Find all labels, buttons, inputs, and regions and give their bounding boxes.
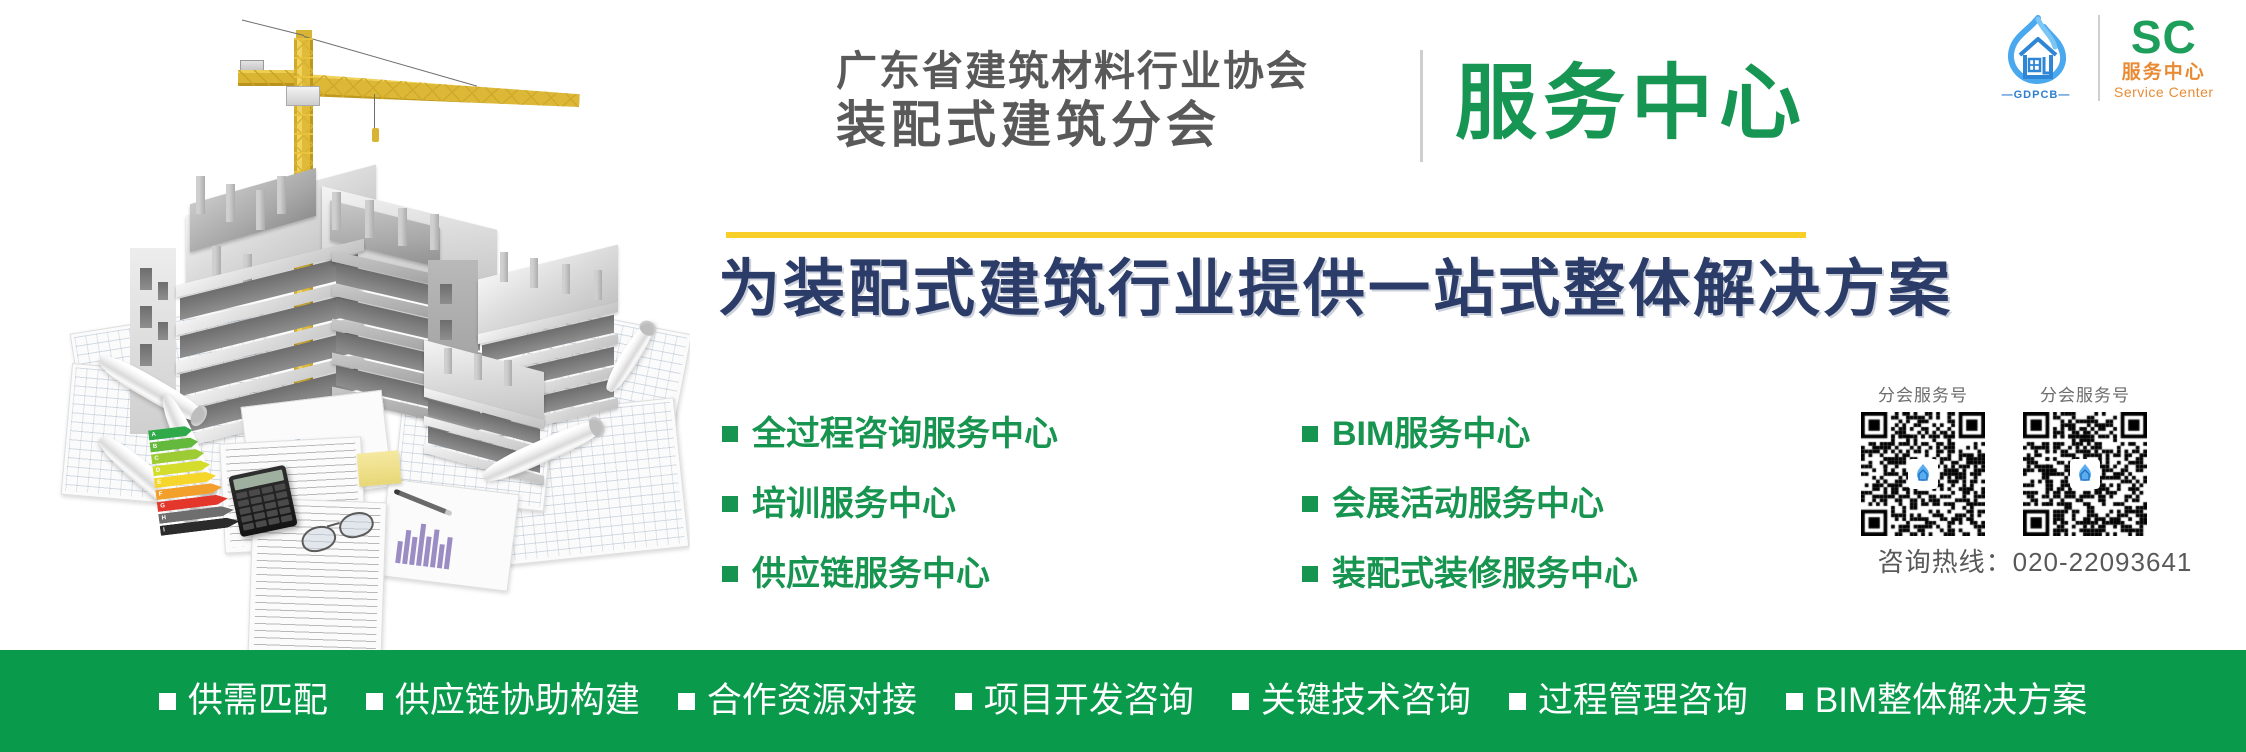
- brand-logo: —GDPCB— SC 服务中心 Service Center: [1988, 14, 2214, 101]
- footer-service-item-label: BIM整体解决方案: [1815, 680, 2087, 722]
- square-bullet-icon: [722, 566, 738, 582]
- footer-service-item[interactable]: 项目开发咨询: [955, 680, 1194, 722]
- footer-service-item[interactable]: 供应链协助构建: [366, 680, 640, 722]
- crane-hook: [372, 128, 379, 142]
- square-bullet-icon: [722, 496, 738, 512]
- sticky-note: [357, 450, 402, 487]
- calculator-keypad: [236, 483, 293, 531]
- crane-operator-cab: [286, 86, 320, 106]
- service-list-item-label: 会展活动服务中心: [1332, 484, 1604, 524]
- qr-center-logo: [1908, 459, 1938, 489]
- service-list-item[interactable]: 培训服务中心: [722, 484, 1058, 524]
- footer-service-item-label: 过程管理咨询: [1538, 680, 1748, 722]
- sc-chinese-label: 服务中心: [2114, 61, 2214, 84]
- service-list-item[interactable]: 供应链服务中心: [722, 554, 1058, 594]
- gdpcb-mark-small: [2074, 463, 2096, 485]
- square-bullet-icon: [1509, 693, 1526, 710]
- gdpcb-wordmark: —GDPCB—: [1988, 89, 2084, 101]
- service-list-item[interactable]: 全过程咨询服务中心: [722, 414, 1058, 454]
- service-center-title: 服务中心: [1455, 56, 1807, 152]
- service-list-left: 全过程咨询服务中心 培训服务中心 供应链服务中心: [722, 414, 1058, 594]
- footer-service-item-label: 供应链协助构建: [395, 680, 640, 722]
- service-list-item-label: 培训服务中心: [752, 484, 956, 524]
- footer-service-item[interactable]: 过程管理咨询: [1509, 680, 1748, 722]
- service-list-item[interactable]: 装配式装修服务中心: [1302, 554, 1638, 594]
- square-bullet-icon: [366, 693, 383, 710]
- qr-code-block: 分会服务号 分会服务号: [1855, 385, 2215, 578]
- square-bullet-icon: [159, 693, 176, 710]
- footer-service-bar: 供需匹配供应链协助构建合作资源对接项目开发咨询关键技术咨询过程管理咨询BIM整体…: [0, 650, 2246, 752]
- footer-service-item-label: 项目开发咨询: [984, 680, 1194, 722]
- gdpcb-logo: —GDPCB—: [1988, 15, 2084, 101]
- footer-service-item[interactable]: 供需匹配: [159, 680, 328, 722]
- sc-logo: SC 服务中心 Service Center: [2114, 14, 2214, 101]
- gdpcb-mark-small: [1912, 463, 1934, 485]
- mini-bar-chart: [395, 517, 454, 569]
- service-list-right: BIM服务中心 会展活动服务中心 装配式装修服务中心: [1302, 414, 1638, 594]
- banner-root: ABCDEFGHI 广东省建筑材料行业协会 装配式建筑分会 服务中心 为装配式建…: [0, 0, 2246, 752]
- qr-center-logo: [2070, 459, 2100, 489]
- footer-service-item[interactable]: BIM整体解决方案: [1786, 680, 2087, 722]
- service-list-item-label: BIM服务中心: [1332, 414, 1530, 454]
- square-bullet-icon: [678, 693, 695, 710]
- square-bullet-icon: [955, 693, 972, 710]
- footer-service-item-label: 供需匹配: [188, 680, 328, 722]
- square-bullet-icon: [1232, 693, 1249, 710]
- service-list-item-label: 装配式装修服务中心: [1332, 554, 1638, 594]
- gold-divider-rule: [726, 232, 1806, 238]
- calculator: [228, 465, 298, 538]
- square-bullet-icon: [722, 426, 738, 442]
- footer-service-item[interactable]: 关键技术咨询: [1232, 680, 1471, 722]
- square-bullet-icon: [1786, 693, 1803, 710]
- qr-code-cell[interactable]: 分会服务号: [1855, 385, 1991, 536]
- page-headline: 为装配式建筑行业提供一站式整体解决方案: [718, 252, 1953, 328]
- association-name-line-2: 装配式建筑分会: [836, 96, 1396, 154]
- gdpcb-house-flame-icon: [1994, 15, 2078, 91]
- footer-service-item-label: 合作资源对接: [707, 680, 917, 722]
- service-list-item-label: 全过程咨询服务中心: [752, 414, 1058, 454]
- footer-service-item[interactable]: 合作资源对接: [678, 680, 917, 722]
- qr-code-cell[interactable]: 分会服务号: [2017, 385, 2153, 536]
- crane-jib: [304, 74, 580, 111]
- crane-cable: [242, 20, 304, 36]
- hotline-text: 咨询热线：020-22093641: [1855, 546, 2215, 578]
- qr-code-image[interactable]: [2023, 412, 2147, 536]
- square-bullet-icon: [1302, 566, 1318, 582]
- sc-abbreviation: SC: [2114, 14, 2214, 60]
- service-list-item-label: 供应链服务中心: [752, 554, 990, 594]
- association-name-line-1: 广东省建筑材料行业协会: [836, 47, 1396, 96]
- service-list-item[interactable]: BIM服务中心: [1302, 414, 1638, 454]
- service-list-item[interactable]: 会展活动服务中心: [1302, 484, 1638, 524]
- square-bullet-icon: [1302, 426, 1318, 442]
- qr-code-caption: 分会服务号: [2017, 385, 2153, 407]
- logo-divider: [2098, 15, 2100, 101]
- footer-service-item-label: 关键技术咨询: [1261, 680, 1471, 722]
- sc-english-label: Service Center: [2114, 84, 2214, 101]
- association-name: 广东省建筑材料行业协会 装配式建筑分会: [836, 47, 1396, 154]
- header-divider: [1420, 50, 1423, 162]
- square-bullet-icon: [1302, 496, 1318, 512]
- construction-site-illustration: ABCDEFGHI: [0, 0, 690, 650]
- qr-code-image[interactable]: [1861, 412, 1985, 536]
- qr-code-caption: 分会服务号: [1855, 385, 1991, 407]
